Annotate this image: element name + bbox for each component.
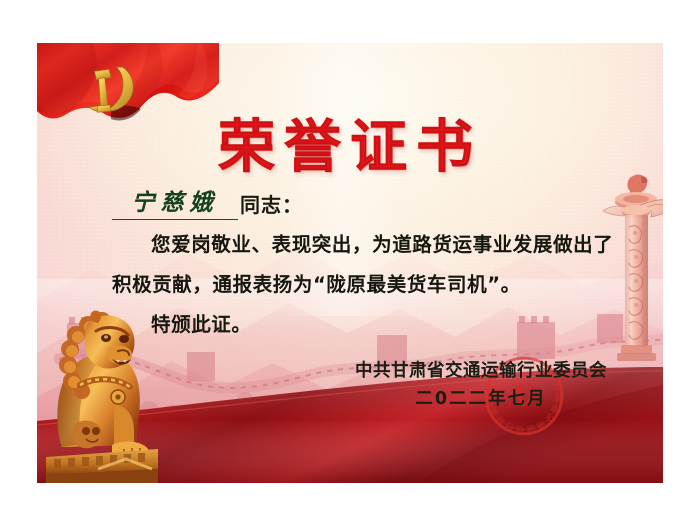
recipient-name: 宁慈娥 <box>112 183 238 220</box>
issuing-organization: 中共甘肃省交通运输行业委员会 <box>355 358 607 384</box>
salutation-suffix: 同志： <box>240 193 303 217</box>
page-title: 荣誉证书 <box>37 101 663 183</box>
body-line-1: 您爱岗敬业、表现突出，为道路货运事业发展做出了 <box>112 225 622 265</box>
issue-date: 二0二二年七月 <box>355 384 607 414</box>
body-line-2: 积极贡献，通报表扬为“陇原最美货车司机”。 <box>112 265 622 305</box>
signature-block: 中共甘肃省交通运输行业委员会 二0二二年七月 <box>355 358 607 414</box>
honor-certificate: 荣誉证书 宁慈娥同志： 您爱岗敬业、表现突出，为道路货运事业发展做出了 积极贡献… <box>37 43 663 483</box>
screenshot-canvas: 荣誉证书 宁慈娥同志： 您爱岗敬业、表现突出，为道路货运事业发展做出了 积极贡献… <box>0 0 700 525</box>
certificate-body: 宁慈娥同志： 您爱岗敬业、表现突出，为道路货运事业发展做出了 积极贡献，通报表扬… <box>112 185 622 345</box>
body-line-3: 特颁此证。 <box>112 305 622 345</box>
salutation-line: 宁慈娥同志： <box>112 185 622 225</box>
